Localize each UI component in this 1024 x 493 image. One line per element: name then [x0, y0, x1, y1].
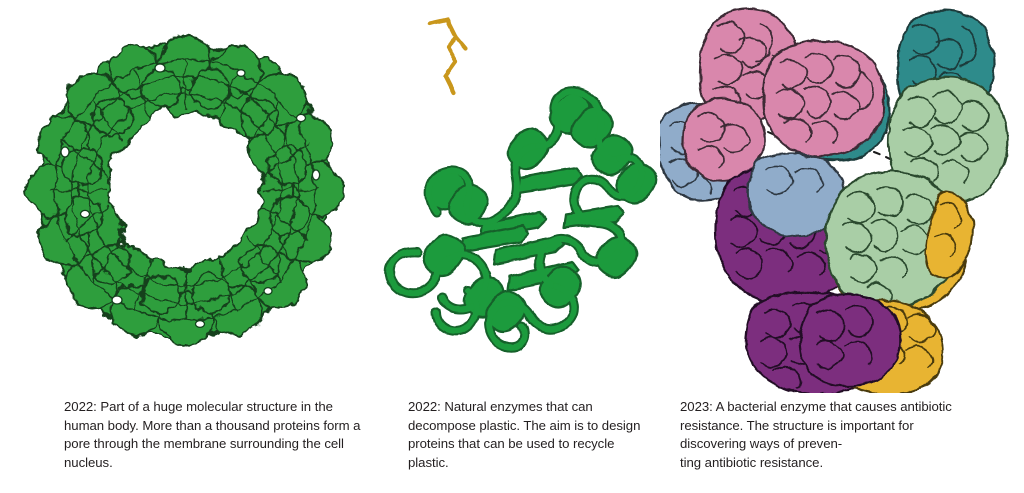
natural-enzyme-ribbon-illustration	[370, 0, 660, 393]
chain-pink-center-top	[764, 41, 884, 157]
panel-nuclear-pore-complex: 2022: Part of a huge molecular structure…	[0, 0, 370, 493]
caption-bacterial-enzyme-complex: 2023: A bacterial enzyme that causes ant…	[680, 398, 980, 472]
enzyme-chain-group	[390, 20, 657, 347]
bacterial-enzyme-complex-illustration	[660, 0, 1024, 393]
caption-nuclear-pore-complex: 2022: Part of a huge molecular structure…	[64, 398, 364, 472]
enzyme-ligand-sticks	[430, 20, 466, 92]
chain-purple-bottom-center	[799, 295, 901, 387]
caption-plastic-degrading-enzyme: 2022: Natural enzymes that can decompose…	[408, 398, 653, 472]
protein-structure-figure: 2022: Part of a huge molecular structure…	[0, 0, 1024, 493]
panel-bacterial-enzyme-complex: 2023: A bacterial enzyme that causes ant…	[660, 0, 1024, 493]
nuclear-pore-complex-illustration	[0, 0, 370, 393]
npc-subunit-contours	[52, 60, 318, 320]
npc-ring-body	[27, 36, 344, 345]
panel-plastic-degrading-enzyme: 2022: Natural enzymes that can decompose…	[370, 0, 660, 493]
